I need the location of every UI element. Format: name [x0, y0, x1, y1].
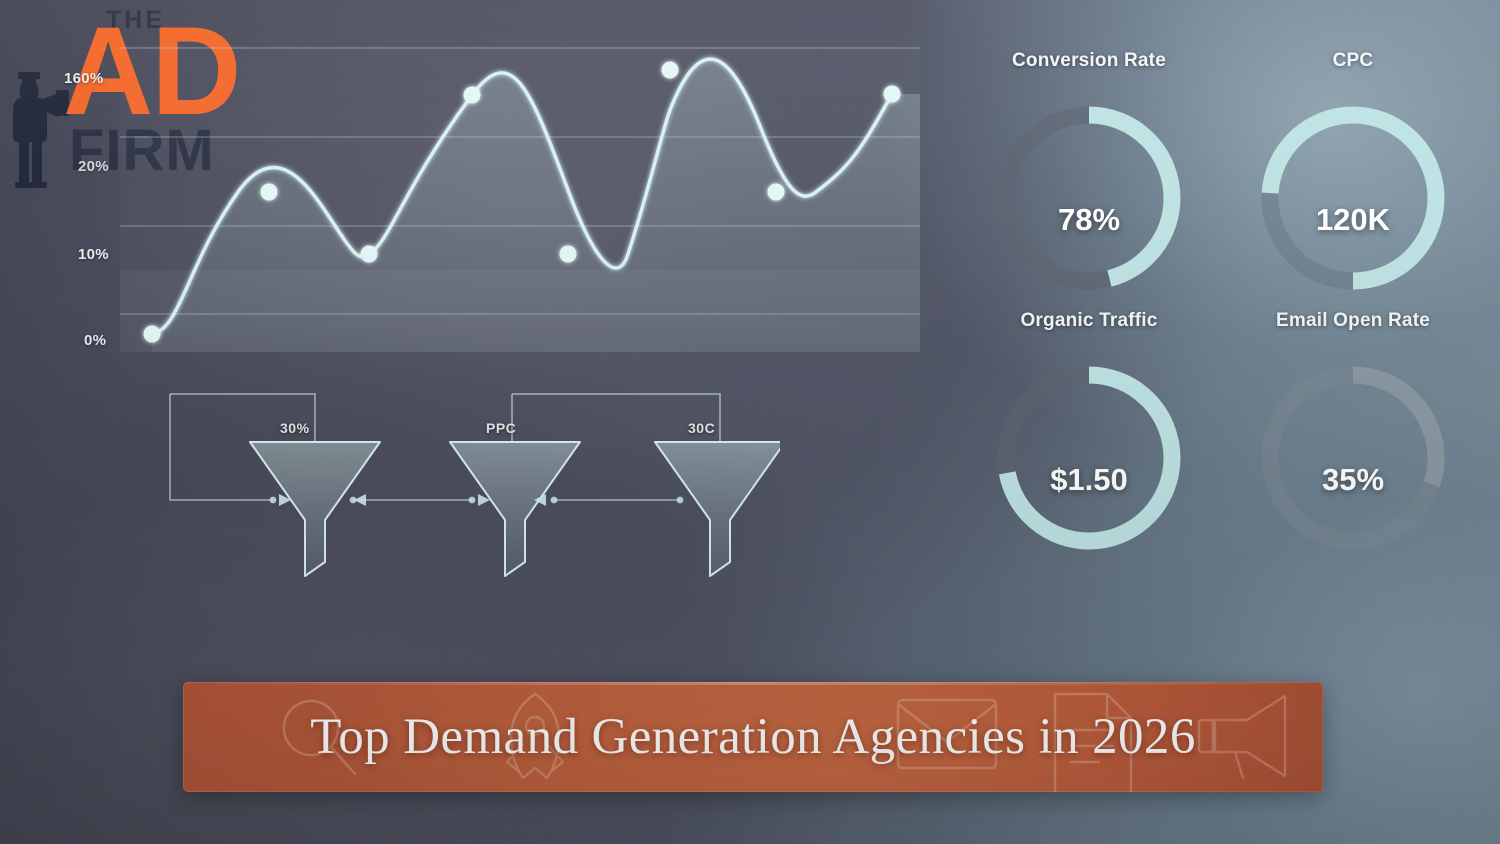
gauge-organic-traffic[interactable]: Organic Traffic $1.50	[979, 310, 1199, 560]
gauge-organic-traffic-ring	[985, 354, 1193, 567]
gauge-cpc-ring	[1249, 94, 1457, 307]
gauge-email-open-rate-title: Email Open Rate	[1243, 310, 1463, 332]
chart-point-8	[884, 86, 901, 103]
gauge-cpc-title: CPC	[1243, 50, 1463, 72]
gauge-email-open-rate-value: 35%	[1243, 462, 1463, 498]
chart-point-1	[144, 326, 161, 343]
chart-point-7	[768, 184, 785, 201]
gauge-conversion-rate-ring	[985, 94, 1193, 307]
gauge-organic-traffic-value: $1.50	[979, 462, 1199, 498]
gauge-email-open-rate-ring	[1249, 354, 1457, 567]
chart-point-5	[560, 246, 577, 263]
gauge-conversion-rate[interactable]: Conversion Rate 78%	[979, 50, 1199, 300]
dashboard-canvas: THE AD FIRM 160% 20% 10% 0%	[0, 0, 1500, 844]
gauge-conversion-rate-value: 78%	[979, 202, 1199, 238]
chart-point-4	[464, 87, 481, 104]
kpi-gauge-grid: Conversion Rate 78% CPC 120K Organic	[975, 50, 1475, 560]
title-banner: Top Demand Generation Agencies in 2026	[183, 682, 1323, 792]
chart-point-6	[662, 62, 679, 79]
funnel-stage-3[interactable]	[655, 442, 780, 576]
performance-line-chart: 160% 20% 10% 0%	[60, 30, 940, 370]
gauge-cpc[interactable]: CPC 120K	[1243, 50, 1463, 300]
funnel-stage-3-label: 30C	[688, 420, 715, 436]
funnel-flow-diagram: 30% PPC 30C	[160, 380, 780, 580]
gauge-email-open-rate[interactable]: Email Open Rate 35%	[1243, 310, 1463, 560]
funnel-stage-1-label: 30%	[280, 420, 310, 436]
chart-point-2	[261, 184, 278, 201]
gauge-organic-traffic-title: Organic Traffic	[979, 310, 1199, 332]
gauge-cpc-value: 120K	[1243, 202, 1463, 238]
funnel-stage-2[interactable]	[450, 442, 580, 576]
page-title: Top Demand Generation Agencies in 2026	[183, 682, 1323, 792]
chart-point-3	[361, 246, 378, 263]
funnel-stage-1[interactable]	[250, 442, 380, 576]
funnel-stage-2-label: PPC	[486, 420, 516, 436]
gauge-conversion-rate-title: Conversion Rate	[979, 50, 1199, 72]
